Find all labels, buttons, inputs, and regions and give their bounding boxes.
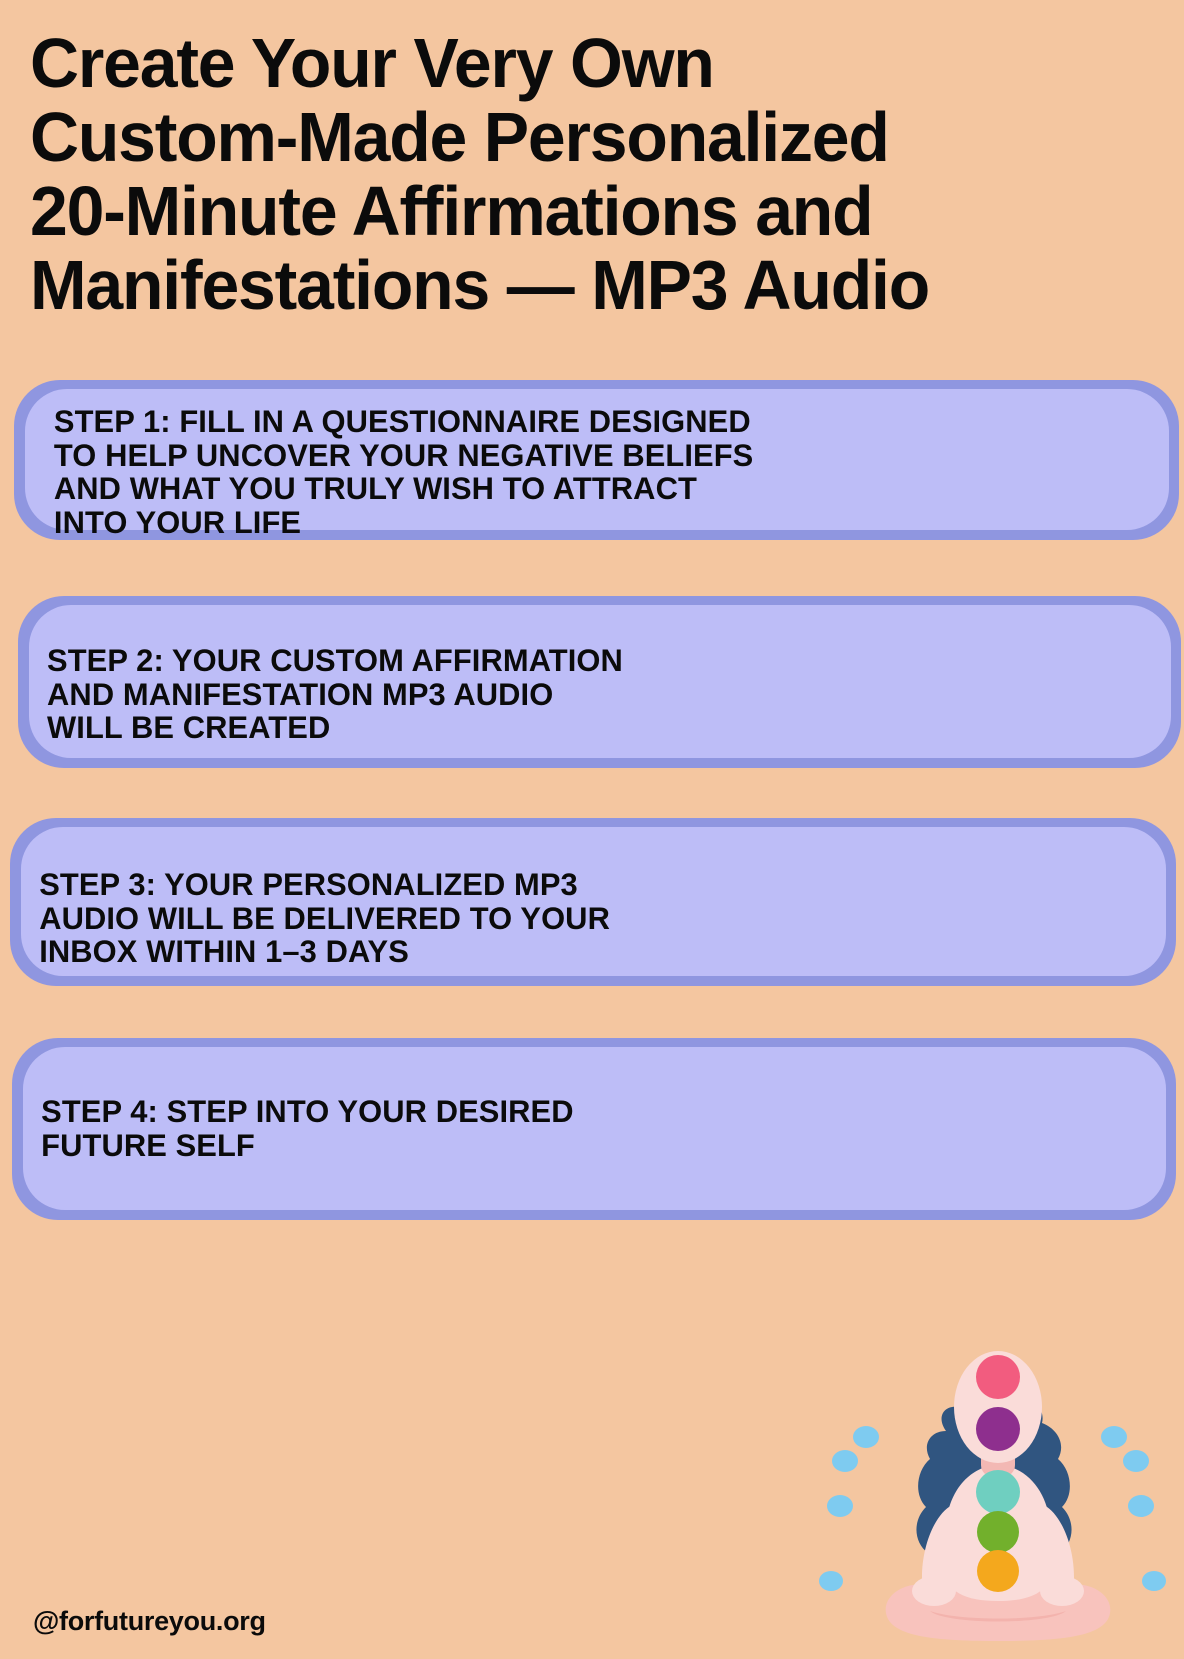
throat-chakra-icon — [976, 1470, 1020, 1514]
site-handle: @forfutureyou.org — [33, 1606, 266, 1637]
page-title: Create Your Very Own Custom-Made Persona… — [30, 26, 1107, 322]
step-card-text-2: STEP 2: YOUR CUSTOM AFFIRMATION AND MANI… — [0, 596, 1160, 745]
right-hand-shape — [1040, 1576, 1084, 1606]
third-eye-chakra-icon — [976, 1407, 1020, 1451]
meditating-figure-illustration — [818, 1319, 1178, 1649]
step-card-1: STEP 1: FILL IN A QUESTIONNAIRE DESIGNED… — [0, 380, 1184, 540]
solar-plexus-chakra-icon — [977, 1550, 1019, 1592]
crown-chakra-icon — [976, 1355, 1020, 1399]
step-card-2: STEP 2: YOUR CUSTOM AFFIRMATION AND MANI… — [0, 596, 1184, 768]
aura-dot-icon — [1142, 1571, 1166, 1591]
steps-list: STEP 1: FILL IN A QUESTIONNAIRE DESIGNED… — [0, 380, 1184, 1264]
step-card-3: STEP 3: YOUR PERSONALIZED MP3 AUDIO WILL… — [0, 818, 1184, 986]
aura-dot-icon — [853, 1426, 879, 1448]
aura-dot-icon — [827, 1495, 853, 1517]
heart-chakra-icon — [977, 1511, 1019, 1553]
step-card-4: STEP 4: STEP INTO YOUR DESIRED FUTURE SE… — [0, 1038, 1184, 1220]
aura-dot-icon — [819, 1571, 843, 1591]
poster-canvas: Create Your Very Own Custom-Made Persona… — [0, 0, 1184, 1659]
left-hand-shape — [912, 1576, 956, 1606]
step-card-text-3: STEP 3: YOUR PERSONALIZED MP3 AUDIO WILL… — [0, 818, 1160, 969]
aura-dot-icon — [1128, 1495, 1154, 1517]
step-card-text-4: STEP 4: STEP INTO YOUR DESIRED FUTURE SE… — [0, 1038, 1160, 1162]
aura-dot-icon — [1123, 1450, 1149, 1472]
aura-dot-icon — [832, 1450, 858, 1472]
step-card-text-1: STEP 1: FILL IN A QUESTIONNAIRE DESIGNED… — [0, 380, 1160, 539]
aura-dot-icon — [1101, 1426, 1127, 1448]
